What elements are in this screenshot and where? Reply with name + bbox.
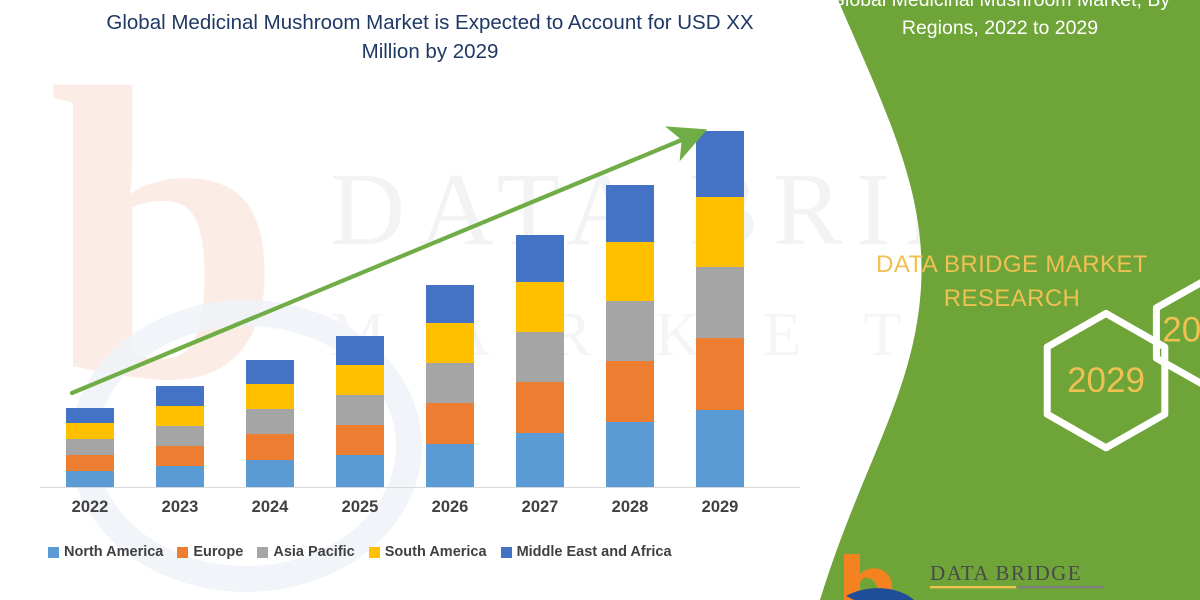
- x-axis-label-2022: 2022: [58, 498, 122, 517]
- x-axis-label-2025: 2025: [328, 498, 392, 517]
- legend-swatch-icon: [257, 547, 268, 558]
- bar-segment-asia-pacific[interactable]: [336, 395, 384, 425]
- legend-swatch-icon: [369, 547, 380, 558]
- bar-segment-south-america[interactable]: [696, 197, 744, 267]
- bar-segment-europe[interactable]: [516, 382, 564, 433]
- bar-segment-north-america[interactable]: [426, 444, 474, 487]
- bar-segment-asia-pacific[interactable]: [66, 439, 114, 455]
- bar-segment-north-america[interactable]: [246, 460, 294, 487]
- legend-label: South America: [385, 544, 487, 560]
- bar-2022[interactable]: [66, 408, 114, 487]
- chart-region: Global Medicinal Mushroom Market is Expe…: [0, 0, 800, 600]
- bar-segment-asia-pacific[interactable]: [156, 426, 204, 446]
- bar-segment-asia-pacific[interactable]: [246, 409, 294, 434]
- panel-title: Global Medicinal Mushroom Market, By Reg…: [800, 0, 1200, 42]
- bar-segment-middle-east-and-africa[interactable]: [336, 336, 384, 365]
- legend-item-south-america[interactable]: South America: [369, 544, 487, 560]
- brand-line-1: DATA BRIDGE MARKET: [832, 248, 1192, 282]
- logo-underline-gold: [930, 586, 1016, 588]
- legend-label: Europe: [193, 544, 243, 560]
- legend-label: North America: [64, 544, 163, 560]
- x-axis-label-2026: 2026: [418, 498, 482, 517]
- bar-segment-north-america[interactable]: [156, 466, 204, 487]
- legend-item-europe[interactable]: Europe: [177, 544, 243, 560]
- hexagon-2029-label: 2029: [1067, 361, 1145, 400]
- legend-swatch-icon: [501, 547, 512, 558]
- chart-legend: North AmericaEuropeAsia PacificSouth Ame…: [48, 541, 672, 563]
- bar-segment-europe[interactable]: [606, 361, 654, 422]
- legend-label: Middle East and Africa: [517, 544, 672, 560]
- bar-2025[interactable]: [336, 336, 384, 487]
- bar-segment-asia-pacific[interactable]: [696, 267, 744, 338]
- bar-segment-north-america[interactable]: [516, 433, 564, 487]
- x-axis-label-2029: 2029: [688, 498, 752, 517]
- bar-segment-middle-east-and-africa[interactable]: [426, 285, 474, 323]
- bar-segment-middle-east-and-africa[interactable]: [606, 185, 654, 242]
- hexagon-badges: 2029 2022: [882, 96, 1182, 236]
- bar-segment-europe[interactable]: [696, 338, 744, 410]
- bar-2023[interactable]: [156, 386, 204, 487]
- legend-label: Asia Pacific: [273, 544, 354, 560]
- bar-segment-south-america[interactable]: [246, 384, 294, 409]
- brand-name: DATA BRIDGE MARKET RESEARCH: [832, 248, 1192, 316]
- brand-line-2: RESEARCH: [832, 282, 1192, 316]
- bar-segment-north-america[interactable]: [66, 471, 114, 487]
- bar-segment-south-america[interactable]: [336, 365, 384, 395]
- bar-segment-asia-pacific[interactable]: [606, 301, 654, 361]
- right-green-panel: Global Medicinal Mushroom Market, By Reg…: [780, 0, 1200, 600]
- bar-segment-south-america[interactable]: [426, 323, 474, 363]
- bar-segment-north-america[interactable]: [606, 422, 654, 487]
- bar-segment-south-america[interactable]: [66, 423, 114, 439]
- hexagon-2022-label: 2022: [1162, 310, 1200, 349]
- x-axis-label-2023: 2023: [148, 498, 212, 517]
- logo-underline-grey: [1018, 586, 1104, 588]
- plot-area: 20222023202420252026202720282029: [0, 0, 800, 600]
- bar-2026[interactable]: [426, 285, 474, 487]
- bar-2029[interactable]: [696, 131, 744, 487]
- x-axis-label-2027: 2027: [508, 498, 572, 517]
- bar-segment-south-america[interactable]: [156, 406, 204, 426]
- bar-segment-europe[interactable]: [66, 455, 114, 471]
- bar-segment-middle-east-and-africa[interactable]: [516, 235, 564, 282]
- company-logo: DATA BRIDGE: [838, 552, 1168, 600]
- bar-segment-europe[interactable]: [426, 403, 474, 444]
- bar-segment-middle-east-and-africa[interactable]: [696, 131, 744, 197]
- legend-item-middle-east-and-africa[interactable]: Middle East and Africa: [501, 544, 672, 560]
- legend-swatch-icon: [48, 547, 59, 558]
- bar-segment-middle-east-and-africa[interactable]: [156, 386, 204, 406]
- bar-segment-north-america[interactable]: [696, 410, 744, 487]
- legend-swatch-icon: [177, 547, 188, 558]
- legend-item-north-america[interactable]: North America: [48, 544, 163, 560]
- bar-segment-south-america[interactable]: [516, 282, 564, 332]
- x-axis-line: [40, 487, 800, 488]
- x-axis-label-2028: 2028: [598, 498, 662, 517]
- bar-segment-europe[interactable]: [246, 434, 294, 460]
- bar-segment-south-america[interactable]: [606, 242, 654, 301]
- bar-segment-europe[interactable]: [336, 425, 384, 455]
- bar-2024[interactable]: [246, 360, 294, 487]
- bar-2028[interactable]: [606, 185, 654, 487]
- bar-segment-middle-east-and-africa[interactable]: [66, 408, 114, 423]
- bar-segment-asia-pacific[interactable]: [516, 332, 564, 382]
- bar-segment-asia-pacific[interactable]: [426, 363, 474, 403]
- logo-text-databridge: DATA BRIDGE: [930, 561, 1082, 585]
- infographic-root: b DATA BRIDGE M A R K E T R E S E A R C …: [0, 0, 1200, 600]
- legend-item-asia-pacific[interactable]: Asia Pacific: [257, 544, 354, 560]
- bar-segment-north-america[interactable]: [336, 455, 384, 487]
- x-axis-label-2024: 2024: [238, 498, 302, 517]
- bar-2027[interactable]: [516, 235, 564, 487]
- bar-segment-europe[interactable]: [156, 446, 204, 466]
- bar-segment-middle-east-and-africa[interactable]: [246, 360, 294, 384]
